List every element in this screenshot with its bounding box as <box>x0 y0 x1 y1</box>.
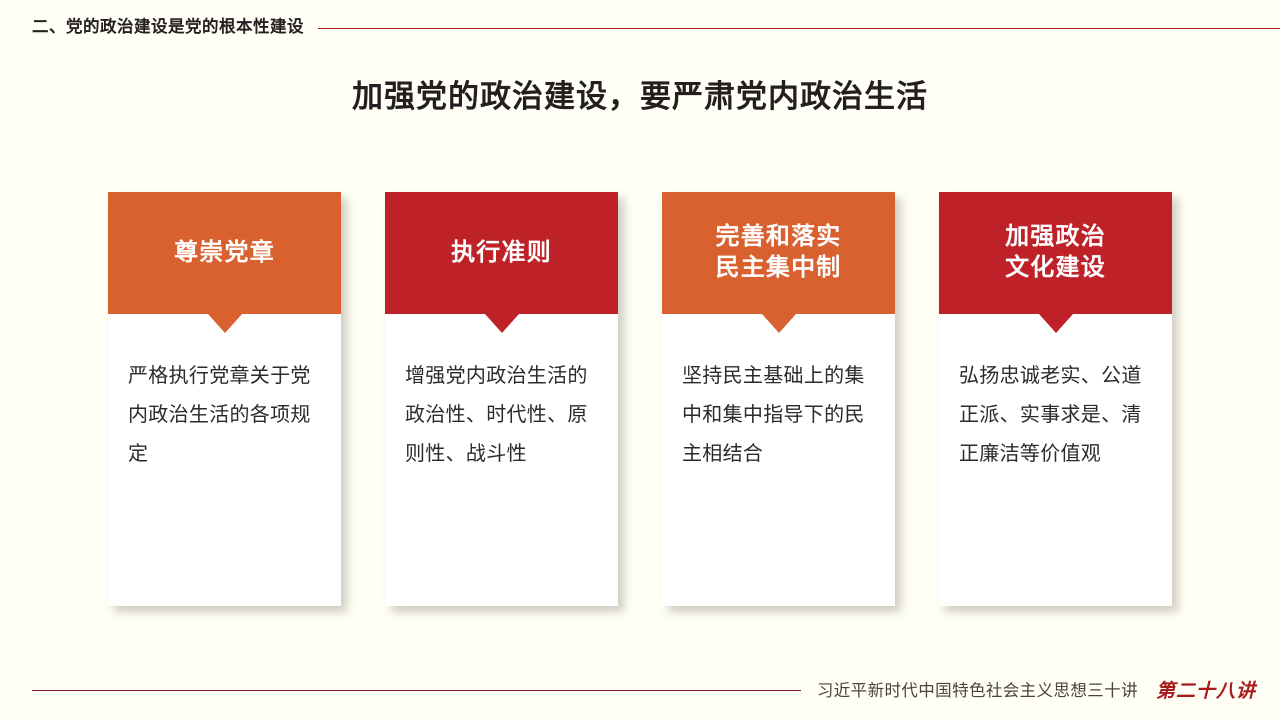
card-heading-1: 尊崇党章 <box>168 238 281 269</box>
footer: 习近平新时代中国特色社会主义思想三十讲 第二十八讲 <box>32 672 1256 706</box>
content-card-2[interactable]: 执行准则 增强党内政治生活的政治性、时代性、原则性、战斗性 <box>385 192 618 606</box>
card-body-4: 弘扬忠诚老实、公道正派、实事求是、清正廉洁等价值观 <box>939 314 1172 606</box>
card-body-2: 增强党内政治生活的政治性、时代性、原则性、战斗性 <box>385 314 618 606</box>
card-heading-2: 执行准则 <box>445 238 558 269</box>
card-header-4: 加强政治 文化建设 <box>939 192 1172 314</box>
section-divider-line <box>318 28 1280 29</box>
card-row: 尊崇党章 严格执行党章关于党内政治生活的各项规定 执行准则 增强党内政治生活的政… <box>108 192 1172 606</box>
section-title: 二、党的政治建设是党的根本性建设 <box>32 19 304 36</box>
card-body-1: 严格执行党章关于党内政治生活的各项规定 <box>108 314 341 606</box>
footer-divider-line <box>32 690 801 691</box>
card-heading-3: 完善和落实 民主集中制 <box>710 222 848 283</box>
card-header-1: 尊崇党章 <box>108 192 341 314</box>
pointer-triangle-icon <box>208 314 242 333</box>
card-header-3: 完善和落实 民主集中制 <box>662 192 895 314</box>
pointer-triangle-icon <box>762 314 796 333</box>
content-card-4[interactable]: 加强政治 文化建设 弘扬忠诚老实、公道正派、实事求是、清正廉洁等价值观 <box>939 192 1172 606</box>
content-card-1[interactable]: 尊崇党章 严格执行党章关于党内政治生活的各项规定 <box>108 192 341 606</box>
pointer-triangle-icon <box>485 314 519 333</box>
slide-root: 二、党的政治建设是党的根本性建设 加强党的政治建设，要严肃党内政治生活 尊崇党章… <box>0 0 1280 720</box>
card-heading-4: 加强政治 文化建设 <box>999 222 1112 283</box>
section-header: 二、党的政治建设是党的根本性建设 <box>32 12 1280 42</box>
content-card-3[interactable]: 完善和落实 民主集中制 坚持民主基础上的集中和集中指导下的民主相结合 <box>662 192 895 606</box>
footer-lecture-number: 第二十八讲 <box>1156 676 1256 703</box>
card-body-3: 坚持民主基础上的集中和集中指导下的民主相结合 <box>662 314 895 606</box>
card-header-2: 执行准则 <box>385 192 618 314</box>
footer-series-title: 习近平新时代中国特色社会主义思想三十讲 <box>817 677 1138 701</box>
pointer-triangle-icon <box>1039 314 1073 333</box>
page-title: 加强党的政治建设，要严肃党内政治生活 <box>0 78 1280 115</box>
